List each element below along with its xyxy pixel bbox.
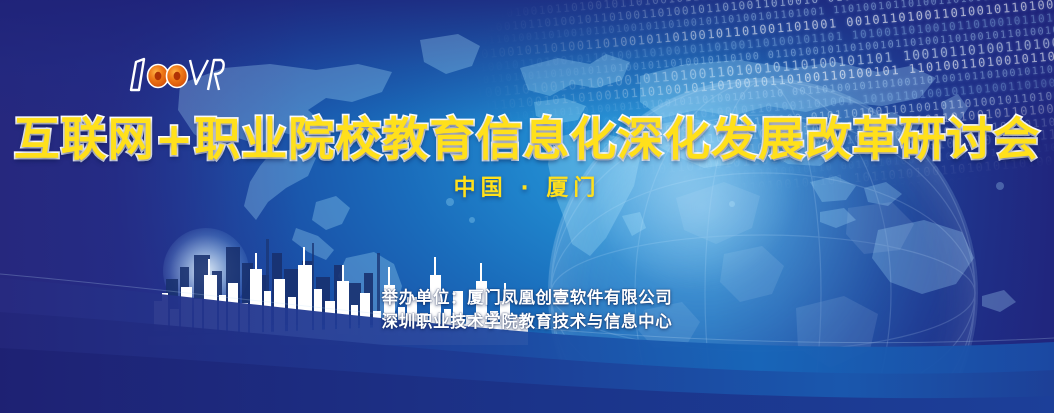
organizer-line: 深圳职业技术学院教育技术与信息中心 [0, 310, 1054, 334]
organizers-block: 举办单位：厦门凤凰创壹软件有限公司 深圳职业技术学院教育技术与信息中心 [0, 286, 1054, 334]
organizer-line: 举办单位：厦门凤凰创壹软件有限公司 [0, 286, 1054, 310]
conference-banner: 1011010100110101011010010110100101101001… [0, 0, 1054, 413]
page-title-text: 互联网+职业院校教育信息化深化发展改革研讨会 [14, 116, 1041, 162]
location-subtitle: 中国 · 厦门 [0, 178, 1054, 200]
page-title: 互联网+职业院校教育信息化深化发展改革研讨会 [0, 116, 1054, 162]
logo-100vr[interactable] [120, 52, 224, 96]
